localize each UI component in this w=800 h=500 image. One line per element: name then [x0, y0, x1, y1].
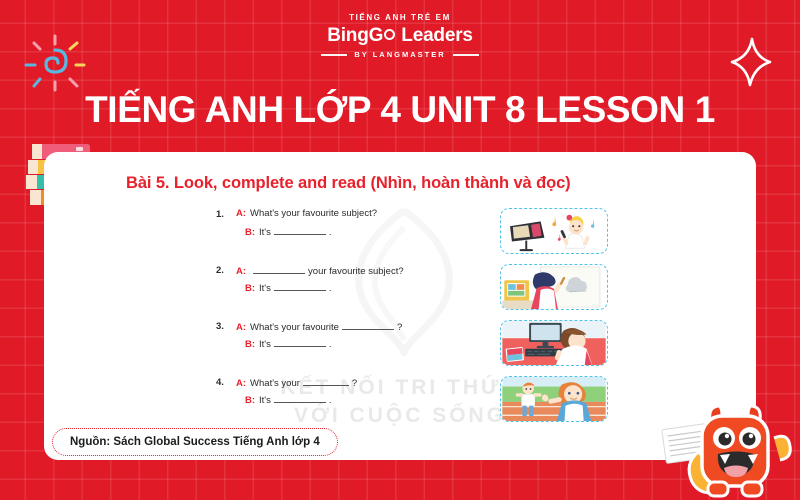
- exercise-item: 2. A: your favourite subject? B: It's .: [44, 264, 756, 320]
- prompt-punct-a: ?: [397, 322, 402, 333]
- answer-blank[interactable]: [274, 281, 326, 291]
- answer-punct-b: .: [329, 395, 332, 406]
- exercise-list: 1. A: What's your favourite subject? B: …: [44, 208, 756, 432]
- answer-blank[interactable]: [274, 337, 326, 347]
- dialogue-line-a: A: What's your favourite ?: [236, 320, 402, 337]
- exercise-dialogue: A: What's your favourite subject? B: It'…: [236, 208, 377, 242]
- answer-text-b: It's: [259, 395, 271, 406]
- prompt-text-a: your favourite subject?: [308, 266, 404, 277]
- red-monster-mascot-icon: [676, 404, 794, 500]
- prompt-text-a: What's your favourite subject?: [250, 208, 377, 219]
- poster-canvas: TIẾNG ANH TRẺ EM BingG Leaders BY LANGMA…: [0, 0, 800, 500]
- dialogue-line-b: B: It's .: [236, 281, 404, 298]
- logo-kicker: TIẾNG ANH TRẺ EM: [0, 12, 800, 23]
- exercise-item: 3. A: What's your favourite ? B: It's .: [44, 320, 756, 376]
- exercise-dialogue: A: your favourite subject? B: It's .: [236, 264, 404, 298]
- speaker-label-b: B:: [245, 395, 255, 406]
- speaker-label-a: A:: [236, 322, 246, 333]
- lesson-card: KẾT NỐI TRI THỨC VỚI CUỘC SỐNG Bài 5. Lo…: [44, 152, 756, 460]
- dialogue-line-a: A: What's your ?: [236, 376, 357, 393]
- answer-punct-b: .: [329, 283, 332, 294]
- logo-name-left: BingG: [327, 25, 383, 46]
- answer-punct-b: .: [329, 227, 332, 238]
- speaker-label-a: A:: [236, 378, 246, 389]
- answer-text-b: It's: [259, 339, 271, 350]
- exercise-image-art-class[interactable]: [500, 264, 608, 310]
- speaker-label-a: A:: [236, 208, 246, 219]
- dialogue-line-b: B: It's .: [236, 393, 357, 410]
- exercise-dialogue: A: What's your favourite ? B: It's .: [236, 320, 402, 354]
- exercise-number: 2.: [216, 265, 232, 276]
- answer-punct-b: .: [329, 339, 332, 350]
- exercise-item: 4. A: What's your ? B: It's .: [44, 376, 756, 432]
- dialogue-line-b: B: It's .: [236, 225, 377, 242]
- exercise-heading: Bài 5. Look, complete and read (Nhìn, ho…: [126, 174, 571, 193]
- answer-blank[interactable]: [274, 225, 326, 235]
- exercise-number: 3.: [216, 321, 232, 332]
- prompt-blank[interactable]: [303, 376, 349, 386]
- prompt-blank[interactable]: [253, 264, 305, 274]
- prompt-text-a: What's your: [250, 378, 300, 389]
- dialogue-line-a: A: your favourite subject?: [236, 264, 404, 281]
- logo-wordmark: BingG Leaders: [0, 24, 800, 47]
- logo-ring-icon: [384, 29, 395, 40]
- exercise-image-pe-class[interactable]: [500, 376, 608, 422]
- prompt-blank[interactable]: [342, 320, 394, 330]
- answer-blank[interactable]: [274, 393, 326, 403]
- answer-text-b: It's: [259, 283, 271, 294]
- speaker-label-b: B:: [245, 339, 255, 350]
- logo-name-right: Leaders: [401, 25, 472, 46]
- exercise-number: 4.: [216, 377, 232, 388]
- exercise-number: 1.: [216, 209, 232, 220]
- logo-byline: BY LANGMASTER: [354, 50, 445, 60]
- dialogue-line-a: A: What's your favourite subject?: [236, 208, 377, 225]
- source-badge: Nguồn: Sách Global Success Tiếng Anh lớp…: [52, 428, 338, 456]
- exercise-item: 1. A: What's your favourite subject? B: …: [44, 208, 756, 264]
- logo-divider: BY LANGMASTER: [0, 50, 800, 60]
- dialogue-line-b: B: It's .: [236, 337, 402, 354]
- logo-rule-right: [453, 54, 479, 56]
- answer-text-b: It's: [259, 227, 271, 238]
- brand-logo: TIẾNG ANH TRẺ EM BingG Leaders BY LANGMA…: [0, 12, 800, 60]
- exercise-image-music-class[interactable]: [500, 208, 608, 254]
- page-title: TIẾNG ANH LỚP 4 UNIT 8 LESSON 1: [0, 88, 800, 132]
- speaker-label-b: B:: [245, 283, 255, 294]
- logo-rule-left: [321, 54, 347, 56]
- exercise-image-it-class[interactable]: [500, 320, 608, 366]
- prompt-text-a: What's your favourite: [250, 322, 339, 333]
- speaker-label-a: A:: [236, 266, 246, 277]
- prompt-punct-a: ?: [352, 378, 357, 389]
- speaker-label-b: B:: [245, 227, 255, 238]
- exercise-dialogue: A: What's your ? B: It's .: [236, 376, 357, 410]
